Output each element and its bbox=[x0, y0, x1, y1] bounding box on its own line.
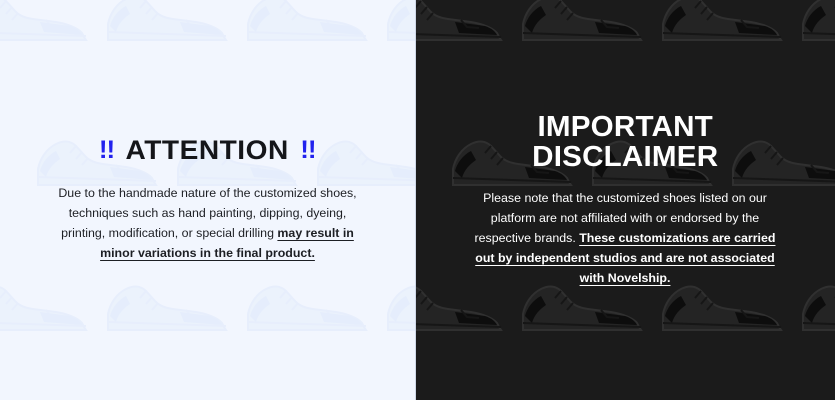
attention-content: !! ATTENTION !! Due to the handmade natu… bbox=[0, 0, 415, 400]
disclaimer-banner: !! ATTENTION !! Due to the handmade natu… bbox=[0, 0, 835, 400]
disclaimer-heading: IMPORTANT DISCLAIMER bbox=[532, 112, 718, 172]
attention-body: Due to the handmade nature of the custom… bbox=[55, 183, 361, 263]
attention-heading-text: ATTENTION bbox=[126, 137, 289, 165]
disclaimer-content: IMPORTANT DISCLAIMER Please note that th… bbox=[415, 0, 835, 400]
disclaimer-body: Please note that the customized shoes li… bbox=[466, 188, 784, 288]
double-exclamation-icon-left: !! bbox=[99, 138, 114, 164]
panel-divider bbox=[415, 0, 416, 400]
disclaimer-heading-line2: DISCLAIMER bbox=[532, 142, 718, 172]
disclaimer-heading-line1: IMPORTANT bbox=[532, 112, 718, 142]
double-exclamation-icon-right: !! bbox=[301, 138, 316, 164]
attention-panel: !! ATTENTION !! Due to the handmade natu… bbox=[0, 0, 415, 400]
disclaimer-panel: IMPORTANT DISCLAIMER Please note that th… bbox=[415, 0, 835, 400]
attention-heading: !! ATTENTION !! bbox=[99, 137, 316, 165]
